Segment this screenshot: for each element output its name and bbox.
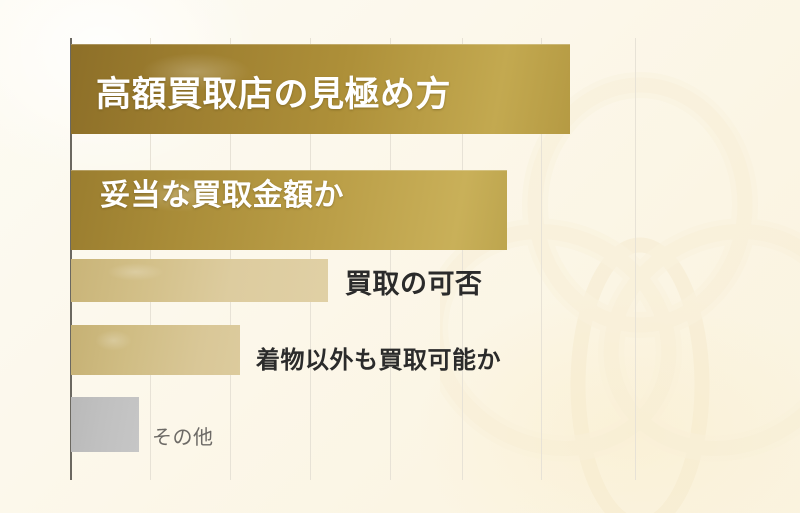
bar-label-3: 買取の可否 <box>345 262 483 301</box>
bar-highlight <box>95 330 132 351</box>
bar-label-5: その他 <box>152 421 214 450</box>
plot-area: 高額買取店の見極め方 妥当な買取金額か 買取の可否 着物以外も買取可能か その他 <box>0 0 800 513</box>
bar-label-4: 着物以外も買取可能か <box>256 340 501 375</box>
bar-5[interactable] <box>71 397 139 452</box>
bar-label-2: 妥当な買取金額か <box>100 170 344 214</box>
bar-label-1: 高額買取店の見極め方 <box>96 66 451 117</box>
chart-canvas: 高額買取店の見極め方 妥当な買取金額か 買取の可否 着物以外も買取可能か その他 <box>0 0 800 513</box>
bar-4[interactable] <box>71 325 240 375</box>
bar-3[interactable] <box>71 259 328 302</box>
bar-highlight <box>107 263 164 281</box>
gridline <box>635 38 636 480</box>
